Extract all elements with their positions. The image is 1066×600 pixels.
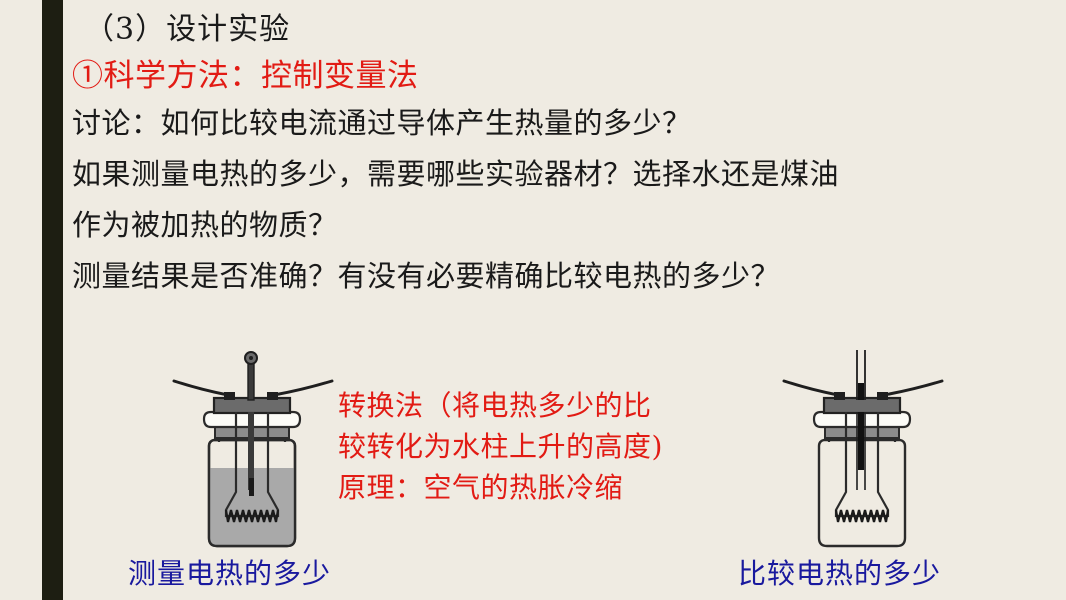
- body-line-1: 讨论：如何比较电流通过导体产生热量的多少？: [72, 98, 1052, 149]
- lead-wire-left-b: [274, 381, 332, 395]
- body-line-4: 测量结果是否准确？有没有必要精确比较电热的多少？: [72, 251, 1052, 302]
- annotation-line-1: 转换法（将电热多少的比: [338, 385, 663, 426]
- capillary-inside-right: [858, 412, 864, 470]
- slide-canvas: （3）设计实验 ①科学方法：控制变量法 讨论：如何比较电流通过导体产生热量的多少…: [0, 0, 1066, 600]
- diagram-calorimeter-right: [772, 350, 972, 564]
- lead-wire-left-a: [174, 381, 228, 395]
- body-line-2: 如果测量电热的多少，需要哪些实验器材？选择水还是煤油: [72, 149, 1052, 200]
- annotation-line-2: 较转化为水柱上升的高度): [338, 426, 663, 467]
- lid-cap-right: [824, 398, 900, 413]
- left-accent-bar: [42, 0, 63, 600]
- caption-right-diagram: 比较电热的多少: [738, 552, 941, 592]
- calorimeter-right-svg: [772, 350, 972, 560]
- capillary-water-column-right: [858, 383, 864, 400]
- lead-wire-right-a: [784, 381, 838, 395]
- annotation-line-3: 原理：空气的热胀冷缩: [338, 467, 663, 508]
- thermometer-bulb-left: [249, 478, 254, 496]
- diagram-calorimeter-left: [162, 350, 362, 564]
- calorimeter-left-svg: [162, 350, 362, 560]
- thermometer-knob-center-left: [249, 356, 253, 360]
- body-line-3: 作为被加热的物质？: [72, 200, 1052, 251]
- red-annotation-block: 转换法（将电热多少的比 较转化为水柱上升的高度) 原理：空气的热胀冷缩: [338, 385, 663, 508]
- page-title: （3）设计实验: [72, 0, 1052, 54]
- text-content-block: （3）设计实验 ①科学方法：控制变量法 讨论：如何比较电流通过导体产生热量的多少…: [72, 0, 1052, 302]
- thermometer-stem-upper-left: [248, 360, 254, 400]
- red-heading-science-method: ①科学方法：控制变量法: [72, 54, 1052, 98]
- caption-left-diagram: 测量电热的多少: [128, 552, 331, 592]
- lead-wire-right-b: [884, 381, 942, 395]
